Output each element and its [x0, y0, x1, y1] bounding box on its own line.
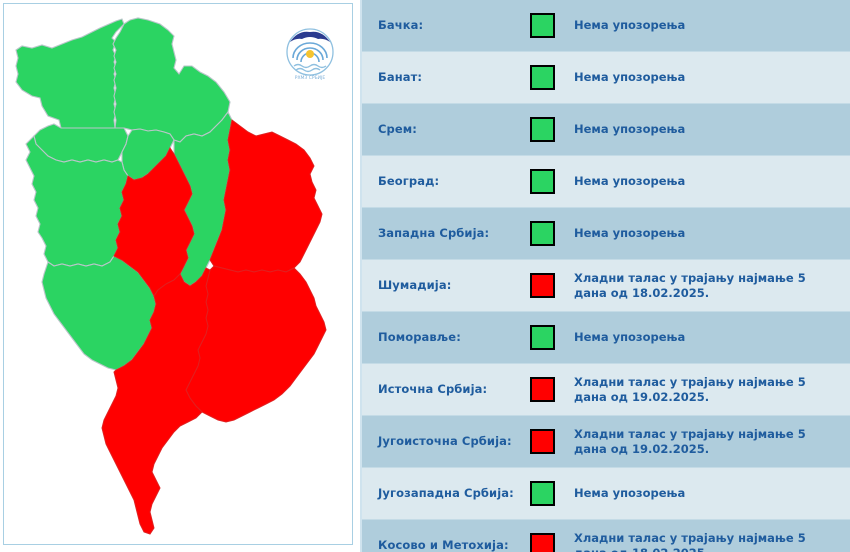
warning-row[interactable]: Банат:Нема упозорења — [362, 52, 850, 104]
status-swatch-cell — [530, 481, 572, 506]
region-label: Бачка: — [378, 18, 530, 32]
status-swatch-cell — [530, 325, 572, 350]
warning-text: Хладни талас у трајању најмање 5 дана од… — [572, 271, 842, 301]
status-swatch-cell — [530, 273, 572, 298]
warning-text: Нема упозорења — [572, 122, 842, 137]
serbia-warning-map[interactable] — [4, 4, 352, 544]
warning-row[interactable]: Косово и Метохија:Хладни талас у трајању… — [362, 520, 850, 552]
warning-text: Нема упозорења — [572, 174, 842, 189]
region-label: Поморавље: — [378, 330, 530, 344]
map-panel: РХМЗ СРБИЈЕ — [0, 0, 360, 552]
status-swatch-red — [530, 533, 555, 552]
region-label: Западна Србија: — [378, 226, 530, 240]
status-swatch-green — [530, 221, 555, 246]
map-region-backa[interactable] — [16, 19, 124, 128]
warning-row[interactable]: Поморавље:Нема упозорења — [362, 312, 850, 364]
rhmz-logo-icon: РХМЗ СРБИЈЕ — [282, 22, 338, 84]
status-swatch-red — [530, 429, 555, 454]
status-swatch-green — [530, 325, 555, 350]
status-swatch-green — [530, 117, 555, 142]
warning-text: Нема упозорења — [572, 226, 842, 241]
status-swatch-green — [530, 65, 555, 90]
warning-row[interactable]: Југоисточна Србија:Хладни талас у трајањ… — [362, 416, 850, 468]
status-swatch-cell — [530, 377, 572, 402]
warning-row[interactable]: Шумадија:Хладни талас у трајању најмање … — [362, 260, 850, 312]
status-swatch-green — [530, 169, 555, 194]
region-label: Косово и Метохија: — [378, 538, 530, 552]
status-swatch-green — [530, 13, 555, 38]
map-region-banat[interactable] — [113, 18, 230, 142]
warning-text: Нема упозорења — [572, 70, 842, 85]
warning-legend-table: Бачка:Нема упозорењаБанат:Нема упозорења… — [360, 0, 850, 552]
warning-rows: Бачка:Нема упозорењаБанат:Нема упозорења… — [362, 0, 850, 552]
status-swatch-cell — [530, 13, 572, 38]
status-swatch-cell — [530, 429, 572, 454]
status-swatch-cell — [530, 169, 572, 194]
region-label: Срем: — [378, 122, 530, 136]
region-label: Југозападна Србија: — [378, 486, 530, 500]
region-label: Шумадија: — [378, 278, 530, 292]
region-label: Источна Србија: — [378, 382, 530, 396]
status-swatch-red — [530, 377, 555, 402]
warning-row[interactable]: Источна Србија:Хладни талас у трајању на… — [362, 364, 850, 416]
region-label: Југоисточна Србија: — [378, 434, 530, 448]
region-label: Банат: — [378, 70, 530, 84]
warning-row[interactable]: Београд:Нема упозорења — [362, 156, 850, 208]
region-label: Београд: — [378, 174, 530, 188]
weather-warning-screen: РХМЗ СРБИЈЕ Бачка:Нема упозорењаБанат:Не… — [0, 0, 850, 552]
warning-text: Хладни талас у трајању најмање 5 дана од… — [572, 427, 842, 457]
warning-text: Нема упозорења — [572, 18, 842, 33]
warning-text: Нема упозорења — [572, 486, 842, 501]
status-swatch-cell — [530, 221, 572, 246]
warning-text: Хладни талас у трајању најмање 5 дана од… — [572, 375, 842, 405]
warning-text: Хладни талас у трајању најмање 5 дана од… — [572, 531, 842, 552]
warning-text: Нема упозорења — [572, 330, 842, 345]
status-swatch-red — [530, 273, 555, 298]
warning-row[interactable]: Бачка:Нема упозорења — [362, 0, 850, 52]
map-frame: РХМЗ СРБИЈЕ — [3, 3, 353, 545]
status-swatch-green — [530, 481, 555, 506]
status-swatch-cell — [530, 117, 572, 142]
warning-row[interactable]: Западна Србија:Нема упозорења — [362, 208, 850, 260]
status-swatch-cell — [530, 65, 572, 90]
warning-row[interactable]: Југозападна Србија:Нема упозорења — [362, 468, 850, 520]
rhmz-serbia-logo: РХМЗ СРБИЈЕ — [282, 22, 338, 84]
rhmz-logo-caption: РХМЗ СРБИЈЕ — [295, 75, 326, 81]
status-swatch-cell — [530, 533, 572, 552]
warning-row[interactable]: Срем:Нема упозорења — [362, 104, 850, 156]
